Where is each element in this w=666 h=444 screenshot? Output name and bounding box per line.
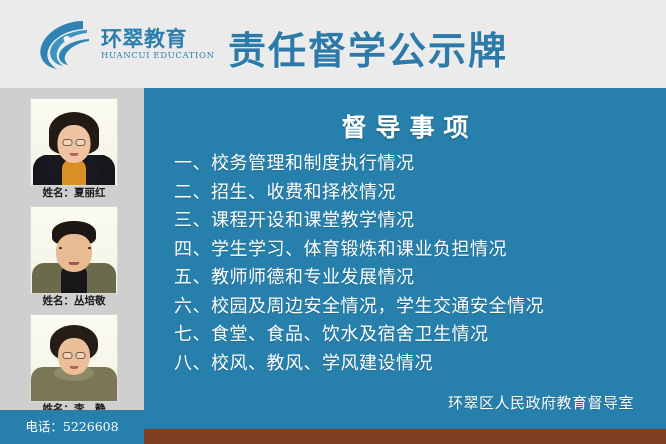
glasses-icon [63,139,86,146]
list-item: 姓名：李 静 [30,314,118,417]
organization-logo: 环翠教育 HUANCUI EDUCATION [33,16,213,74]
person-name-label: 姓名：夏丽红 [30,186,118,201]
huancui-leaf-logo-icon [33,17,95,73]
list-item: 七、食堂、食品、饮水及宿舍卫生情况 [174,321,666,350]
page-title: 责任督学公示牌 [228,20,508,75]
avatar [30,314,118,402]
supervision-item-list: 一、校务管理和制度执行情况 二、招生、收费和择校情况 三、课程开设和课堂教学情况… [174,150,666,378]
person-name-label: 姓名：丛培敬 [30,294,118,309]
public-notice-board: 环翠教育 HUANCUI EDUCATION 责任督学公示牌 姓名：夏丽红 [0,0,666,444]
logo-chinese-name: 环翠教育 [101,29,215,50]
portrait-sidebar: 姓名：夏丽红 姓名：丛培敬 [0,88,144,410]
list-item: 八、校风、教风、学风建设情况 [174,350,666,379]
list-item: 姓名：丛培敬 [30,206,118,309]
list-item: 姓名：夏丽红 [30,98,118,201]
section-title: 督导事项 [144,108,666,144]
list-item: 四、学生学习、体育锻炼和课业负担情况 [174,236,666,265]
main-content-panel: 督导事项 一、校务管理和制度执行情况 二、招生、收费和择校情况 三、课程开设和课… [144,88,666,429]
list-item: 二、招生、收费和择校情况 [174,179,666,208]
board-header: 环翠教育 HUANCUI EDUCATION 责任督学公示牌 [0,0,666,88]
list-item: 六、校园及周边安全情况，学生交通安全情况 [174,293,666,322]
list-item: 一、校务管理和制度执行情况 [174,150,666,179]
logo-english-name: HUANCUI EDUCATION [101,52,215,61]
list-item: 五、教师师德和专业发展情况 [174,264,666,293]
issuing-authority: 环翠区人民政府教育督导室 [448,392,634,413]
contact-phone: 电话：5226608 [0,410,144,444]
footer-bar [144,429,666,444]
avatar [30,98,118,186]
list-item: 三、课程开设和课堂教学情况 [174,207,666,236]
glasses-icon [63,352,86,359]
avatar [30,206,118,294]
